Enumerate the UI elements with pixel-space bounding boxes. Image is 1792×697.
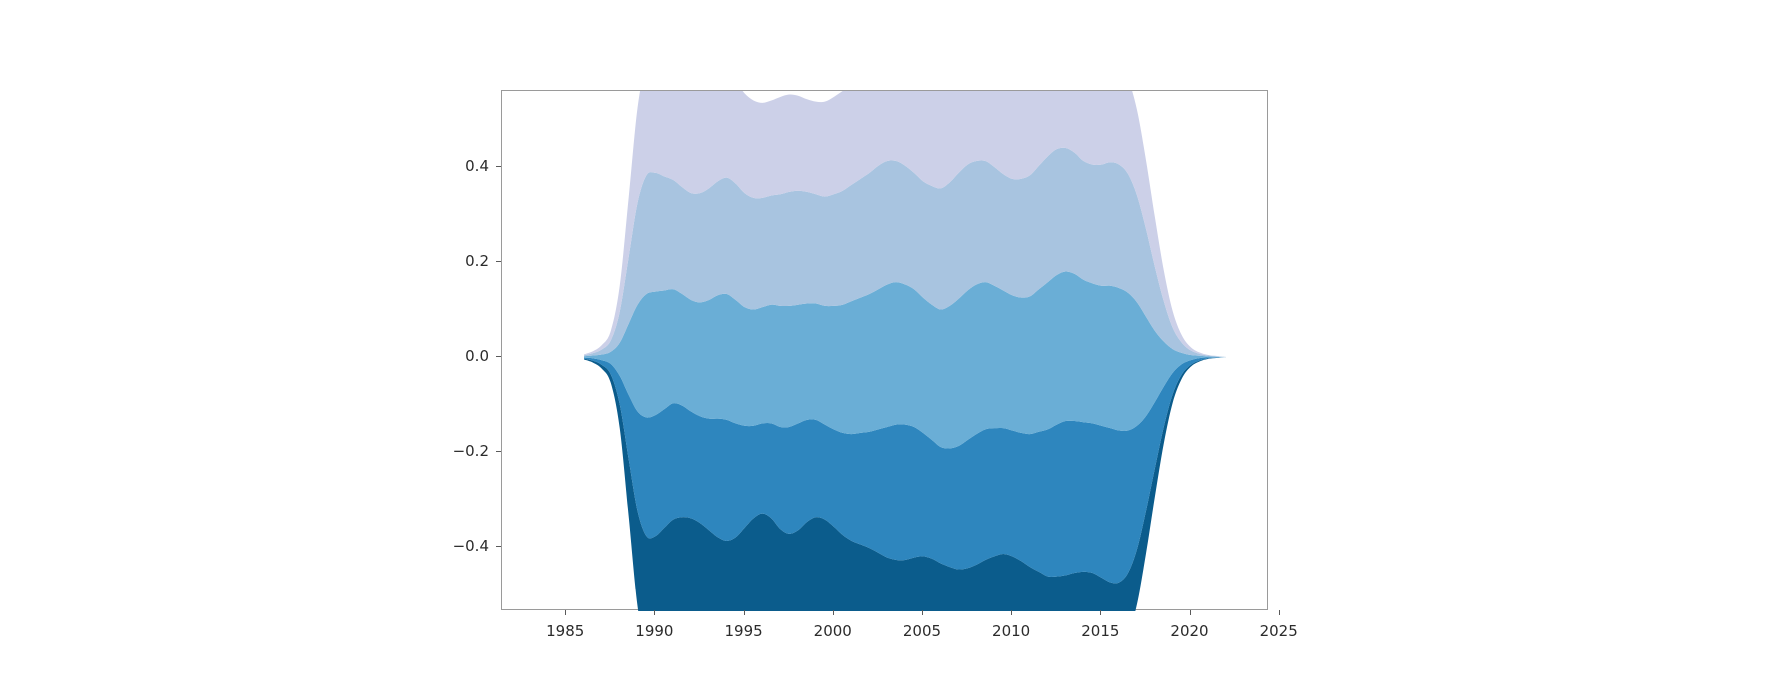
y-tick-mark [496, 356, 501, 357]
y-tick-label: −0.4 [441, 537, 489, 555]
x-tick-mark [654, 610, 655, 615]
x-tick-label: 2010 [992, 622, 1030, 640]
streamgraph-svg [502, 91, 1269, 611]
x-tick-mark [1100, 610, 1101, 615]
x-tick-label: 2015 [1081, 622, 1119, 640]
x-tick-label: 2005 [903, 622, 941, 640]
x-tick-label: 2000 [814, 622, 852, 640]
y-tick-mark [496, 166, 501, 167]
x-tick-label: 1990 [635, 622, 673, 640]
y-tick-label: 0.4 [441, 157, 489, 175]
plot-axes [501, 90, 1268, 610]
figure-canvas: 0.40.20.0−0.2−0.4 1985199019952000200520… [0, 0, 1792, 697]
x-tick-mark [1279, 610, 1280, 615]
x-tick-mark [1011, 610, 1012, 615]
x-tick-mark [922, 610, 923, 615]
y-tick-label: 0.0 [441, 347, 489, 365]
x-tick-mark [1190, 610, 1191, 615]
x-tick-mark [565, 610, 566, 615]
y-tick-mark [496, 451, 501, 452]
x-tick-label: 1995 [724, 622, 762, 640]
y-tick-label: −0.2 [441, 442, 489, 460]
y-tick-mark [496, 261, 501, 262]
x-tick-mark [833, 610, 834, 615]
x-tick-label: 2025 [1260, 622, 1298, 640]
x-tick-label: 1985 [546, 622, 584, 640]
y-tick-label: 0.2 [441, 252, 489, 270]
x-tick-mark [744, 610, 745, 615]
x-tick-label: 2020 [1170, 622, 1208, 640]
y-tick-mark [496, 546, 501, 547]
